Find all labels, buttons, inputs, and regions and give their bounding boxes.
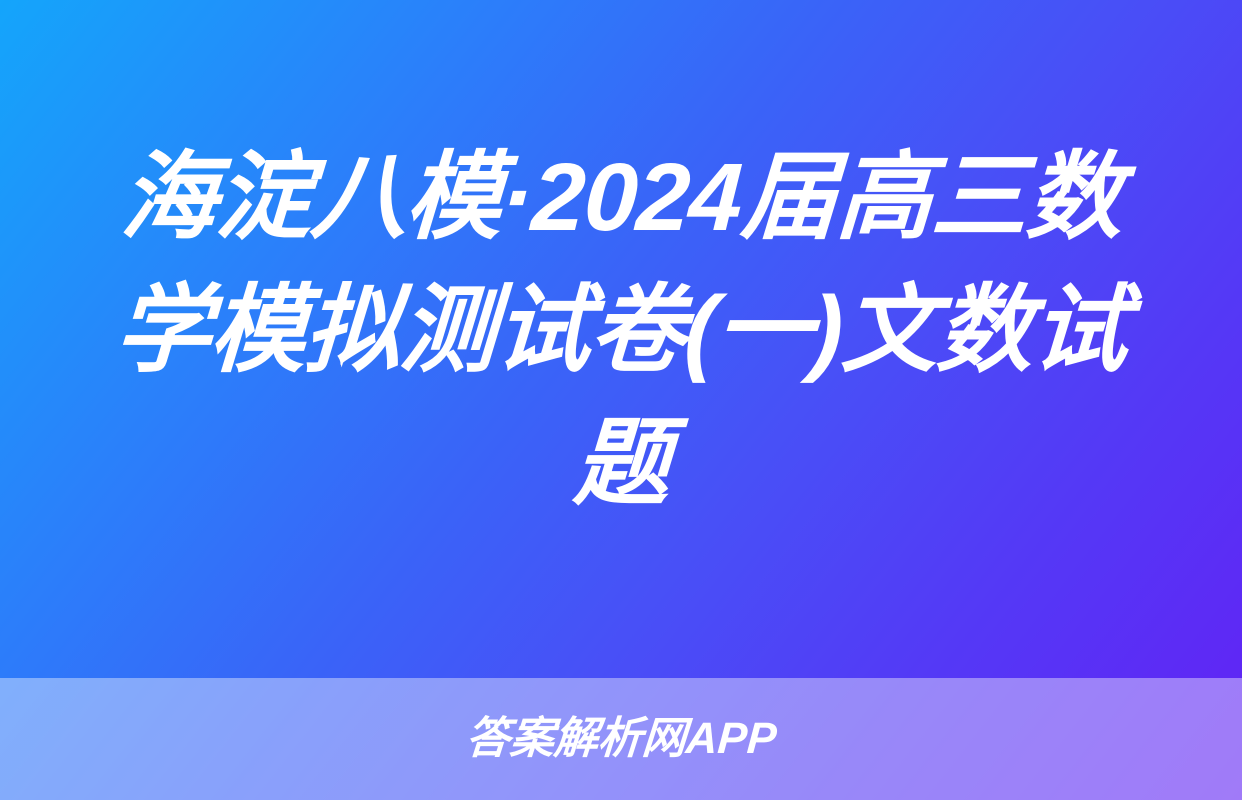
title-block: 海淀八模·2024届高三数 学模拟测试卷(一)文数试 题: [0, 0, 1242, 678]
watermark-band: 答案解析网APP: [0, 678, 1242, 800]
title-line-2: 学模拟测试卷(一)文数试: [112, 264, 1131, 397]
watermark-brand-label: 答案解析网APP: [464, 714, 778, 764]
cover-image: 海淀八模·2024届高三数 学模拟测试卷(一)文数试 题 答案解析网APP: [0, 0, 1242, 800]
title-line-3: 题: [570, 397, 672, 530]
title-line-1: 海淀八模·2024届高三数: [117, 131, 1125, 264]
